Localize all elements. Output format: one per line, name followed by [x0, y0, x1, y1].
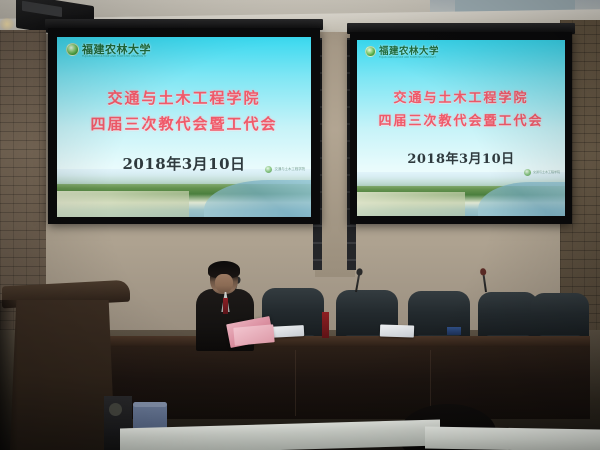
podium-shadow [0, 300, 18, 450]
speaker-face [215, 274, 233, 293]
table-panel-seam [295, 350, 296, 416]
projection-screen-left: 福建农林大学 FUJIAN AGRICULTURE AND FORESTRY U… [48, 28, 320, 224]
slide-landscape-photo [357, 172, 565, 216]
slide-content-right: 福建农林大学 FUJIAN AGRICULTURE AND FORESTRY U… [357, 40, 565, 216]
blue-item-on-table [447, 327, 461, 335]
watermark-text: 交通与土木工程学院 [274, 168, 305, 171]
projector-lens-glow-icon [0, 18, 14, 30]
watermark-seal-icon [524, 169, 531, 176]
speaker-documents-secondary [233, 324, 274, 345]
slide-title-line-1: 交通与土木工程学院 [357, 87, 565, 106]
university-logo-text: 福建农林大学 [379, 47, 439, 57]
slide-landscape-photo [57, 169, 311, 217]
stack-of-papers [380, 324, 414, 337]
foreground-table-right [425, 426, 600, 450]
conference-chair [531, 293, 589, 340]
photo-field [57, 191, 189, 217]
photo-river [478, 182, 565, 216]
university-logo-text: 福建农林大学 [82, 44, 151, 55]
university-seal-icon [66, 43, 79, 56]
university-seal-icon [365, 46, 376, 57]
photo-field [357, 192, 465, 216]
microphone-head-icon [480, 268, 487, 276]
photo-river [204, 180, 311, 217]
speaker-tie [223, 298, 228, 314]
university-logo-subtext: FUJIAN AGRICULTURE AND FORESTRY UNIVERSI… [82, 56, 147, 59]
slide-watermark: 交通与土木工程学院 [524, 169, 560, 176]
slide-title-line-2: 四届三次教代会暨工代会 [357, 110, 565, 129]
conference-chair [478, 292, 538, 340]
conference-room-photo: 福建农林大学 FUJIAN AGRICULTURE AND FORESTRY U… [0, 0, 600, 450]
university-logo-subtext: FUJIAN AGRICULTURE AND FORESTRY UNIVERSI… [379, 57, 436, 59]
projection-screen-right: 福建农林大学 FUJIAN AGRICULTURE AND FORESTRY U… [350, 32, 572, 224]
watermark-text: 交通与土木工程学院 [533, 171, 560, 174]
slide-date: 2018年3月10日 [357, 148, 565, 167]
watermark-seal-icon [265, 166, 272, 173]
speaker-person [196, 262, 276, 357]
podium-body [10, 300, 115, 450]
slide-content-left: 福建农林大学 FUJIAN AGRICULTURE AND FORESTRY U… [57, 37, 311, 217]
red-folder [322, 312, 329, 338]
slide-title-line-1: 交通与土木工程学院 [57, 87, 311, 108]
slide-title-line-2: 四届三次教代会暨工代会 [57, 113, 311, 134]
slide-watermark: 交通与土木工程学院 [265, 166, 305, 173]
